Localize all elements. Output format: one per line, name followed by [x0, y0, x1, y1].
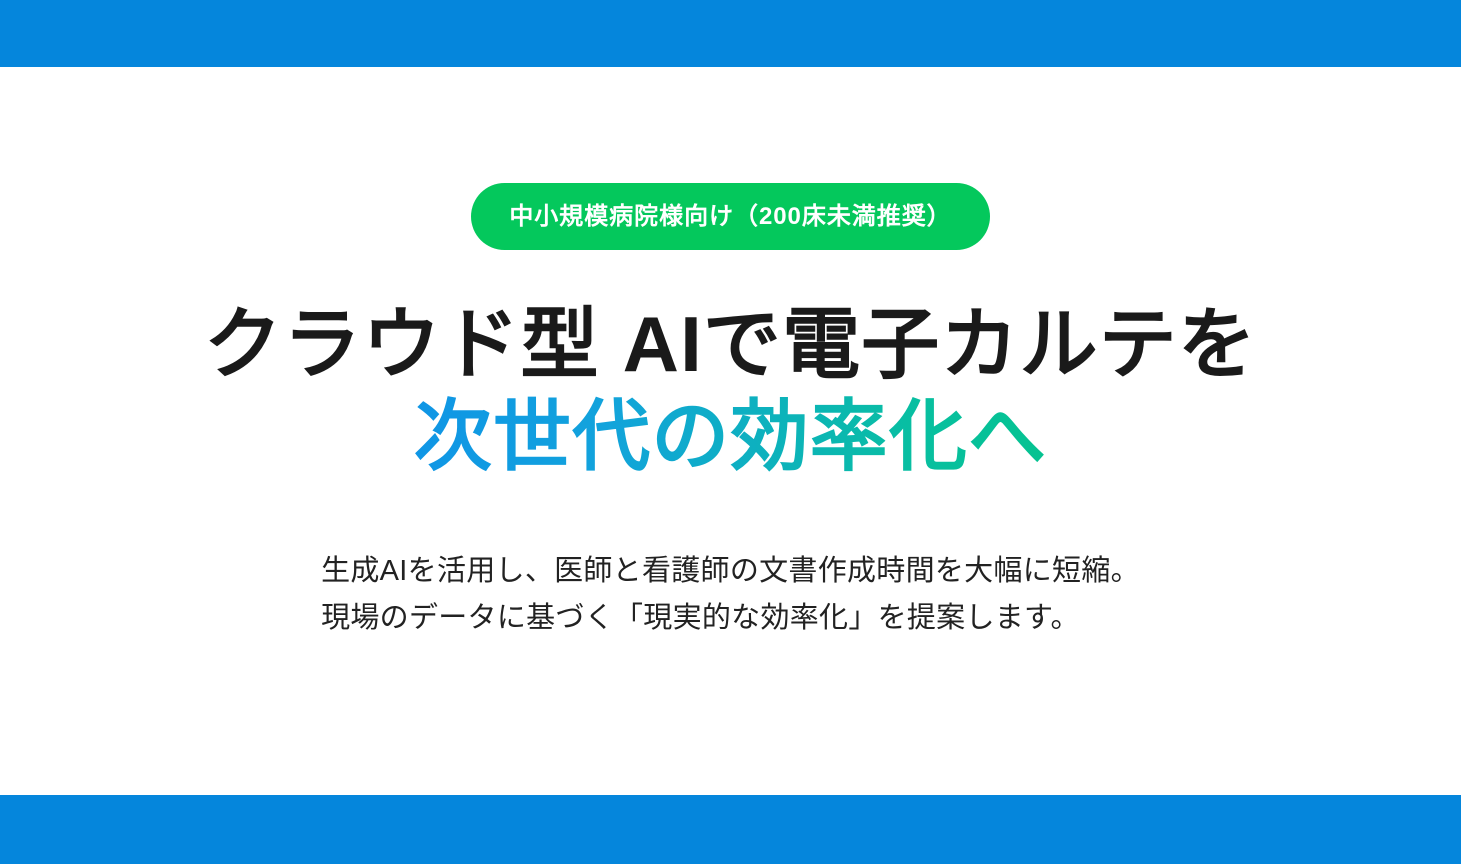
hero-content: 中小規模病院様向け（200床未満推奨） クラウド型 AIで電子カルテを 次世代の…	[0, 67, 1461, 795]
hero-description-line-1: 生成AIを活用し、医師と看護師の文書作成時間を大幅に短縮。	[321, 548, 1140, 595]
page-title: クラウド型 AIで電子カルテを 次世代の効率化へ	[204, 298, 1257, 482]
hero-description: 生成AIを活用し、医師と看護師の文書作成時間を大幅に短縮。 現場のデータに基づく…	[321, 548, 1140, 642]
hero-slide: 中小規模病院様向け（200床未満推奨） クラウド型 AIで電子カルテを 次世代の…	[0, 0, 1461, 864]
page-title-line-2: 次世代の効率化へ	[204, 390, 1257, 482]
page-title-line-1: クラウド型 AIで電子カルテを	[204, 298, 1257, 390]
bottom-accent-bar	[0, 795, 1461, 864]
target-audience-badge-label: 中小規模病院様向け（200床未満推奨）	[509, 205, 951, 229]
hero-description-line-2: 現場のデータに基づく「現実的な効率化」を提案します。	[321, 595, 1140, 642]
top-accent-bar	[0, 0, 1461, 67]
target-audience-badge: 中小規模病院様向け（200床未満推奨）	[471, 183, 989, 250]
